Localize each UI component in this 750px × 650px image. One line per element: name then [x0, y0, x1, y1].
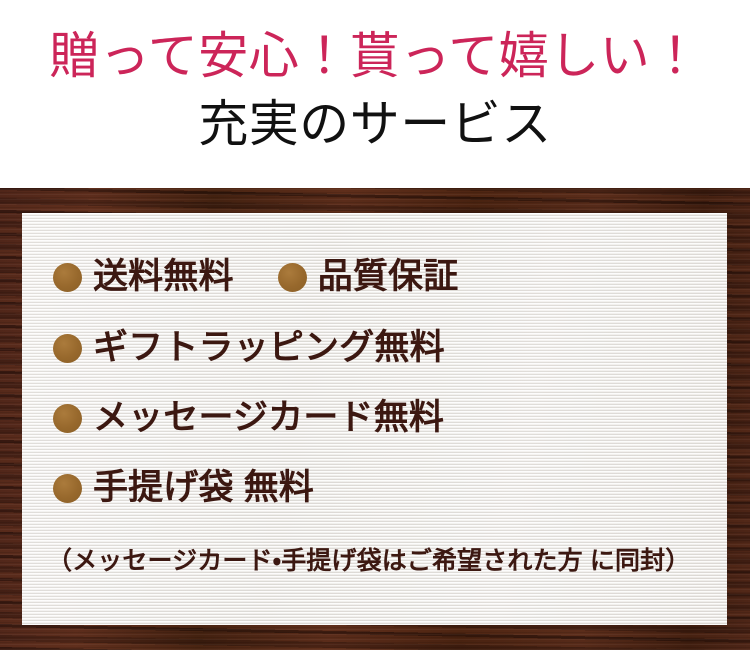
feature-item-gift-wrapping: ギフトラッピング無料 — [53, 329, 445, 367]
bullet-dot-icon — [278, 263, 307, 292]
feature-row: 送料無料 品質保証 — [22, 258, 727, 296]
service-note: （メッセージカード・手提げ袋はご希望された方 に同封） — [47, 546, 690, 576]
feature-item-free-shipping: 送料無料 — [53, 258, 234, 296]
feature-item-message-card: メッセージカード無料 — [53, 399, 444, 437]
feature-row: 手提げ袋 無料 — [22, 469, 727, 507]
service-banner: 贈って安心！貰って嬉しい！ 充実のサービス 送料無料 品質保証 ギフトラッピング… — [0, 0, 750, 650]
feature-row: ギフトラッピング無料 — [22, 329, 727, 367]
bullet-dot-icon — [53, 263, 82, 292]
header-headline-primary: 贈って安心！貰って嬉しい！ — [0, 27, 750, 85]
bullet-dot-icon — [53, 474, 82, 503]
feature-item-quality-guarantee: 品質保証 — [278, 258, 459, 296]
feature-label: メッセージカード無料 — [93, 399, 444, 437]
bullet-dot-icon — [53, 334, 82, 363]
feature-item-gift-bag: 手提げ袋 無料 — [53, 469, 314, 507]
bullet-dot-icon — [53, 404, 82, 433]
header-headline-secondary: 充実のサービス — [0, 95, 750, 153]
service-panel: 送料無料 品質保証 ギフトラッピング無料 メッセージカード無料 — [22, 213, 727, 625]
feature-row: メッセージカード無料 — [22, 399, 727, 437]
feature-label: 手提げ袋 無料 — [93, 469, 314, 507]
feature-label: 品質保証 — [318, 258, 459, 296]
banner-header: 贈って安心！貰って嬉しい！ 充実のサービス — [0, 0, 750, 188]
feature-label: ギフトラッピング無料 — [93, 329, 445, 367]
feature-label: 送料無料 — [93, 258, 234, 296]
